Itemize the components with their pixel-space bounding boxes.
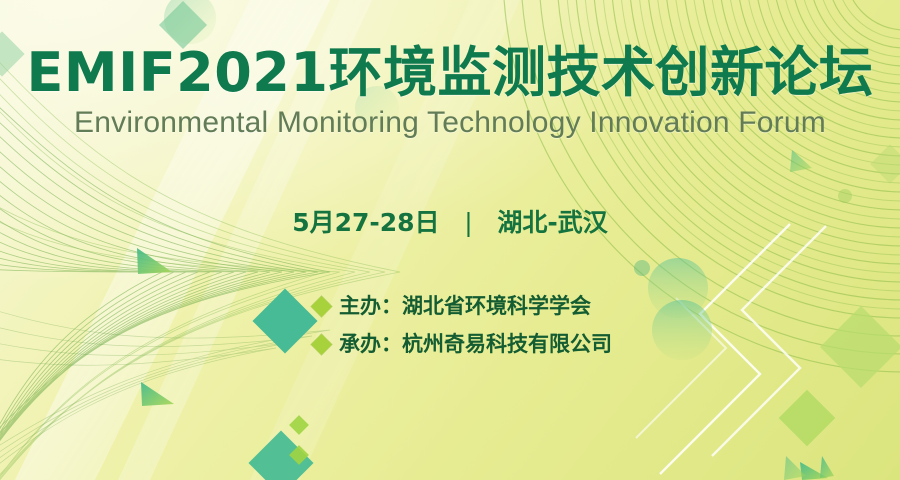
event-location: 湖北-武汉 <box>497 208 607 237</box>
organizer-host-label: 主办： <box>339 293 402 319</box>
organizer-cohost-label: 承办： <box>339 331 402 357</box>
organizer-accent-diamond <box>252 288 317 353</box>
organizer-host-name: 湖北省环境科学学会 <box>402 293 591 319</box>
date-location-line: 5月27-28日 | 湖北-武汉 <box>0 208 900 238</box>
organizer-row-host: 主办： 湖北省环境科学学会 <box>314 290 612 322</box>
organizer-row-cohost: 承办： 杭州奇易科技有限公司 <box>314 328 612 360</box>
page-subtitle: Environmental Monitoring Technology Inno… <box>0 106 900 140</box>
page-title: EMIF2021环境监测技术创新论坛 <box>0 44 900 102</box>
event-banner: EMIF2021环境监测技术创新论坛 Environmental Monitor… <box>0 0 900 480</box>
organizer-block: 主办： 湖北省环境科学学会 承办： 杭州奇易科技有限公司 <box>314 290 612 366</box>
diamond-bullet-icon <box>311 333 332 354</box>
diamond-bullet-icon <box>311 295 332 316</box>
title-block: EMIF2021环境监测技术创新论坛 Environmental Monitor… <box>0 44 900 140</box>
organizer-cohost-name: 杭州奇易科技有限公司 <box>402 331 612 357</box>
event-date: 5月27-28日 <box>292 208 439 237</box>
separator: | <box>464 208 472 238</box>
